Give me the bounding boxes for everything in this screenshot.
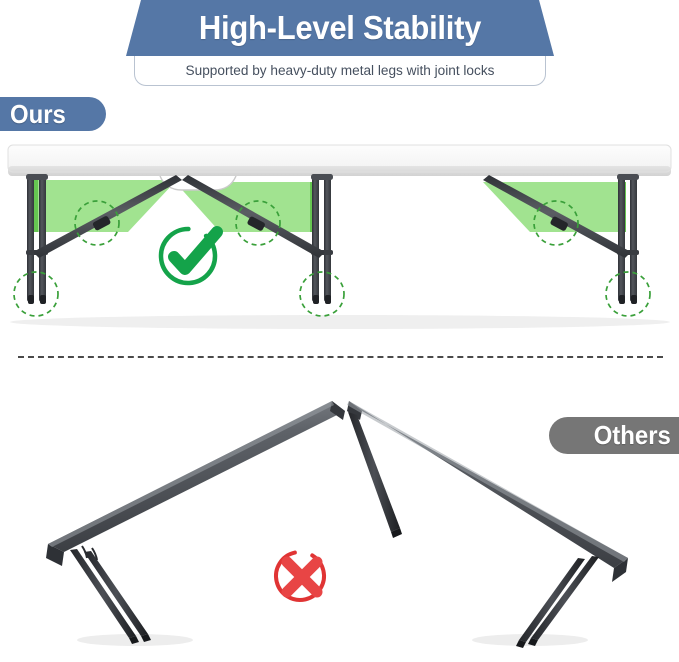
x-circle-icon <box>271 545 330 604</box>
illustration-others <box>0 372 679 652</box>
others-table-svg <box>0 372 679 652</box>
floor-shadow <box>10 315 670 329</box>
folded-panel-left <box>46 401 345 566</box>
illustration-ours <box>0 132 679 332</box>
folded-panel-right <box>347 401 628 582</box>
dashed-circle-marker-foot-right <box>606 272 650 316</box>
splayed-legs-left <box>70 546 151 644</box>
dashed-circle-marker-foot-left <box>14 272 58 316</box>
page-subtitle: Supported by heavy-duty metal legs with … <box>142 56 538 86</box>
header-banner: High-Level Stability Supported by heavy-… <box>0 0 679 92</box>
check-circle-icon <box>155 219 225 289</box>
page-subtitle-label: Supported by heavy-duty metal legs with … <box>186 63 495 79</box>
page-title: High-Level Stability <box>139 0 541 56</box>
badge-ours-label: Ours <box>10 99 66 130</box>
section-divider <box>18 356 663 358</box>
page-title-label: High-Level Stability <box>199 9 481 47</box>
badge-ours: Ours <box>0 97 106 131</box>
splayed-legs-right <box>516 556 599 648</box>
dashed-circle-marker-foot-center <box>300 272 344 316</box>
comparison-infographic: High-Level Stability Supported by heavy-… <box>0 0 679 662</box>
ours-table-svg <box>0 132 679 332</box>
